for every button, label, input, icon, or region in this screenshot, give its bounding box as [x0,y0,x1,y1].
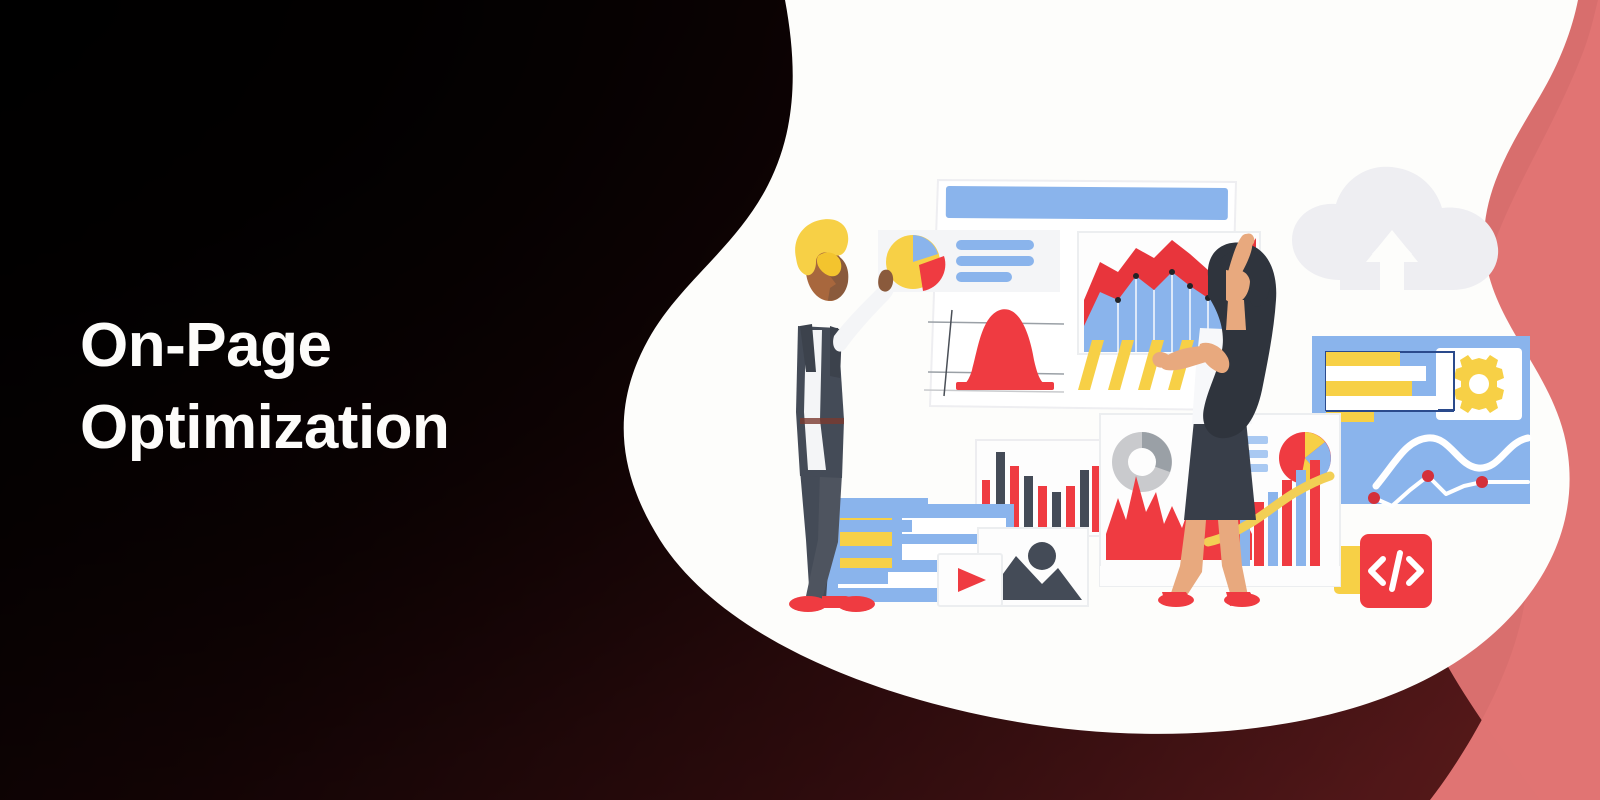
gear-icon [1454,355,1504,413]
banner-root: On-PageOptimization [0,0,1600,800]
page-title-line-2: Optimization [80,387,449,469]
code-icon-group [1334,534,1432,608]
page-title: On-PageOptimization [80,305,449,469]
pie-chart-card-small [878,230,1060,292]
donut-chart-gray [1112,432,1172,492]
cloud-upload-icon [1292,167,1498,290]
blue-panel-right [1312,336,1530,506]
play-button-card [938,554,1002,606]
page-title-line-1: On-Page [80,305,449,387]
